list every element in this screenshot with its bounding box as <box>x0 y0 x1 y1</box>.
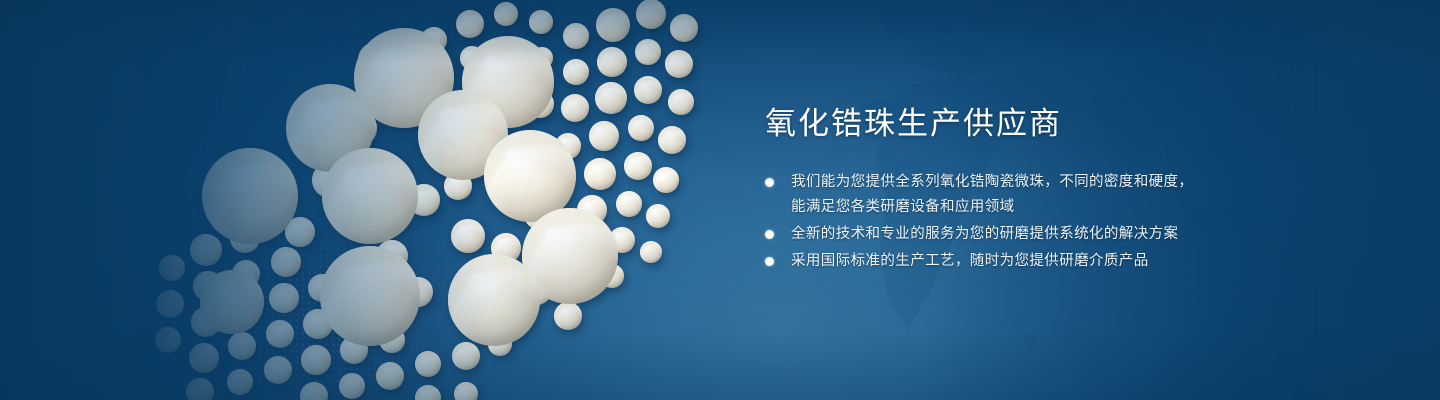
bullet-dot-icon <box>765 178 774 187</box>
bullet-dot-icon <box>765 230 774 239</box>
promo-banner: 氧化锆珠生产供应商 我们能为您提供全系列氧化锆陶瓷微珠，不同的密度和硬度， 能满… <box>0 0 1440 400</box>
list-item: 采用国际标准的生产工艺，随时为您提供研磨介质产品 <box>765 249 1325 274</box>
page-title: 氧化锆珠生产供应商 <box>765 104 1325 144</box>
list-item: 全新的技术和专业的服务为您的研磨提供系统化的解决方案 <box>765 222 1325 247</box>
feature-list: 我们能为您提供全系列氧化锆陶瓷微珠，不同的密度和硬度， 能满足您各类研磨设备和应… <box>765 170 1325 274</box>
list-item-line-1: 采用国际标准的生产工艺，随时为您提供研磨介质产品 <box>791 253 1149 269</box>
list-item-line-1: 我们能为您提供全系列氧化锆陶瓷微珠，不同的密度和硬度， <box>791 174 1193 190</box>
list-item-line-1: 全新的技术和专业的服务为您的研磨提供系统化的解决方案 <box>791 226 1178 242</box>
banner-copy: 氧化锆珠生产供应商 我们能为您提供全系列氧化锆陶瓷微珠，不同的密度和硬度， 能满… <box>765 104 1325 276</box>
list-item-line-2: 能满足您各类研磨设备和应用领域 <box>791 195 1325 220</box>
bullet-dot-icon <box>765 257 774 266</box>
list-item: 我们能为您提供全系列氧化锆陶瓷微珠，不同的密度和硬度， 能满足您各类研磨设备和应… <box>765 170 1325 220</box>
